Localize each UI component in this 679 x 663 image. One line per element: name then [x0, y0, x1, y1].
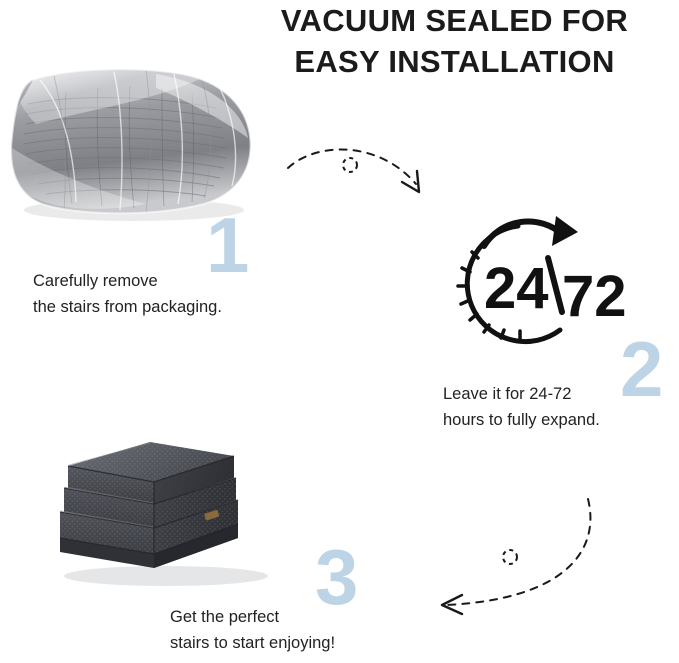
- step-1-caption-line-2: the stairs from packaging.: [33, 294, 222, 320]
- clock-hours-label: 24: [484, 256, 549, 321]
- page-title: VACUUM SEALED FOR EASY INSTALLATION: [230, 0, 679, 82]
- page-title-line-2: EASY INSTALLATION: [230, 41, 679, 82]
- step-2-number: 2: [620, 330, 663, 408]
- dashed-arrow-2-icon: [420, 495, 605, 620]
- svg-text:72: 72: [562, 264, 627, 329]
- step-2-caption-line-1: Leave it for 24-72: [443, 381, 600, 407]
- step-3-caption: Get the perfect stairs to start enjoying…: [170, 604, 335, 656]
- step-2-caption: Leave it for 24-72 hours to fully expand…: [443, 381, 600, 433]
- vacuum-sealed-package-photo: [6, 64, 264, 222]
- step-2-caption-line-2: hours to fully expand.: [443, 407, 600, 433]
- step-1-caption: Carefully remove the stairs from packagi…: [33, 268, 222, 320]
- step-1-caption-line-1: Carefully remove: [33, 268, 222, 294]
- dashed-arrow-1-icon: [282, 140, 457, 235]
- foam-pet-stairs-photo: [46, 420, 276, 590]
- page-title-line-1: VACUUM SEALED FOR: [230, 0, 679, 41]
- step-3-caption-line-2: stairs to start enjoying!: [170, 630, 335, 656]
- clock-24-72-icon: 24 72: [444, 212, 634, 357]
- step-3-caption-line-1: Get the perfect: [170, 604, 335, 630]
